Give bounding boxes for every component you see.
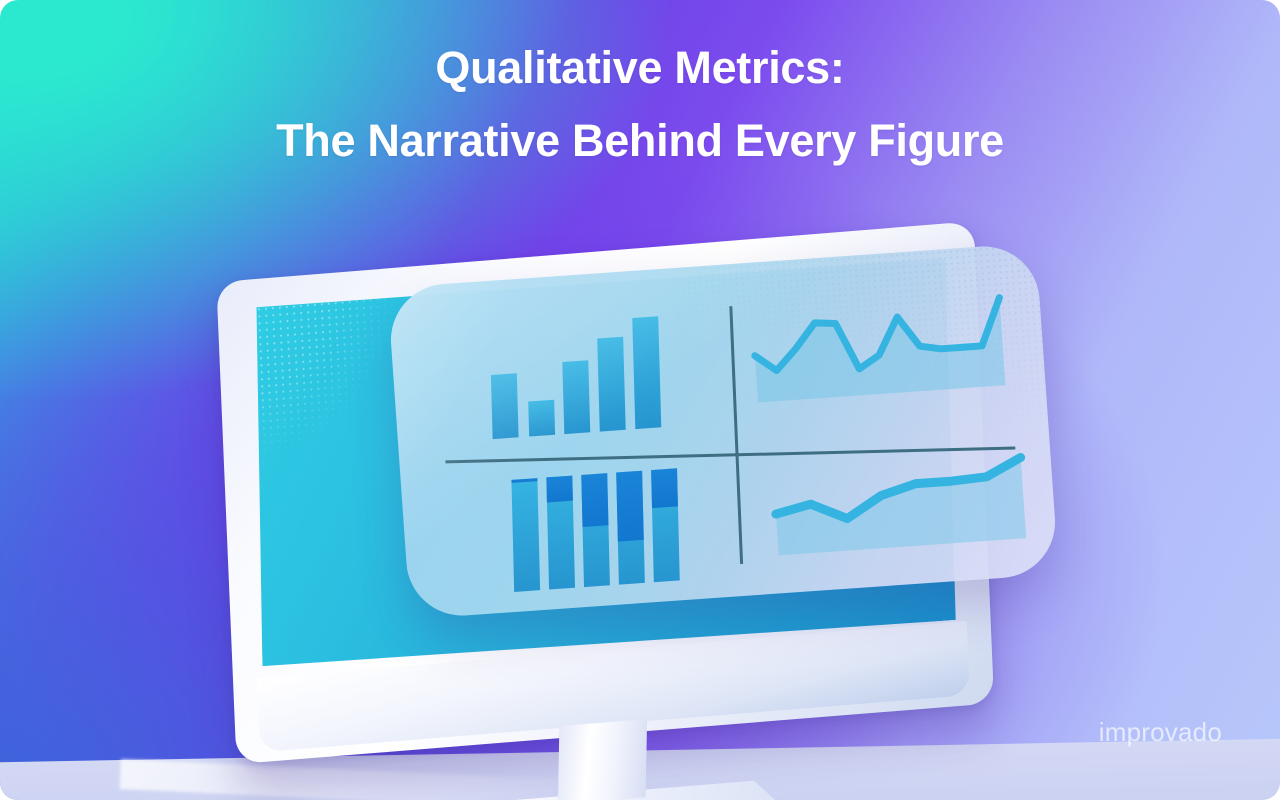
title-line-2: The Narrative Behind Every Figure [0,117,1280,166]
hero-banner: Qualitative Metrics: The Narrative Behin… [0,0,1280,800]
chart-area-top-right [744,267,1013,425]
stacked-bar-upper-segment [651,468,678,508]
stacked-bar-upper-segment [581,473,608,526]
bar-3 [562,360,590,434]
stacked-bar-2 [546,476,575,590]
improvado-logo: improvado [1099,717,1222,748]
chart-bar-top-left [457,294,716,447]
bar-5 [632,316,661,429]
bar-series [486,311,664,439]
bar-2 [528,400,555,437]
page-title: Qualitative Metrics: The Narrative Behin… [0,44,1280,165]
dashboard-card [387,243,1059,620]
bar-1 [491,373,519,439]
area-chart-bottom-right-svg [765,422,1034,580]
stacked-bar-series [509,468,682,591]
stacked-bar-3 [581,473,610,587]
stacked-bar-5 [651,468,680,582]
stacked-bar-upper-segment [511,478,537,483]
screen-dot-texture-icon [247,287,418,491]
bar-4 [597,337,626,432]
monitor-stand-neck [558,719,647,800]
chart-stacked-bar-bottom-left [478,451,737,600]
chart-area-bottom-right [765,422,1034,580]
stacked-bar-4 [616,471,645,585]
title-line-1: Qualitative Metrics: [0,44,1280,93]
stacked-bar-1 [511,478,540,592]
stacked-bar-upper-segment [546,476,573,502]
stacked-bar-upper-segment [616,471,644,542]
area-chart-top-right-svg [744,267,1013,425]
